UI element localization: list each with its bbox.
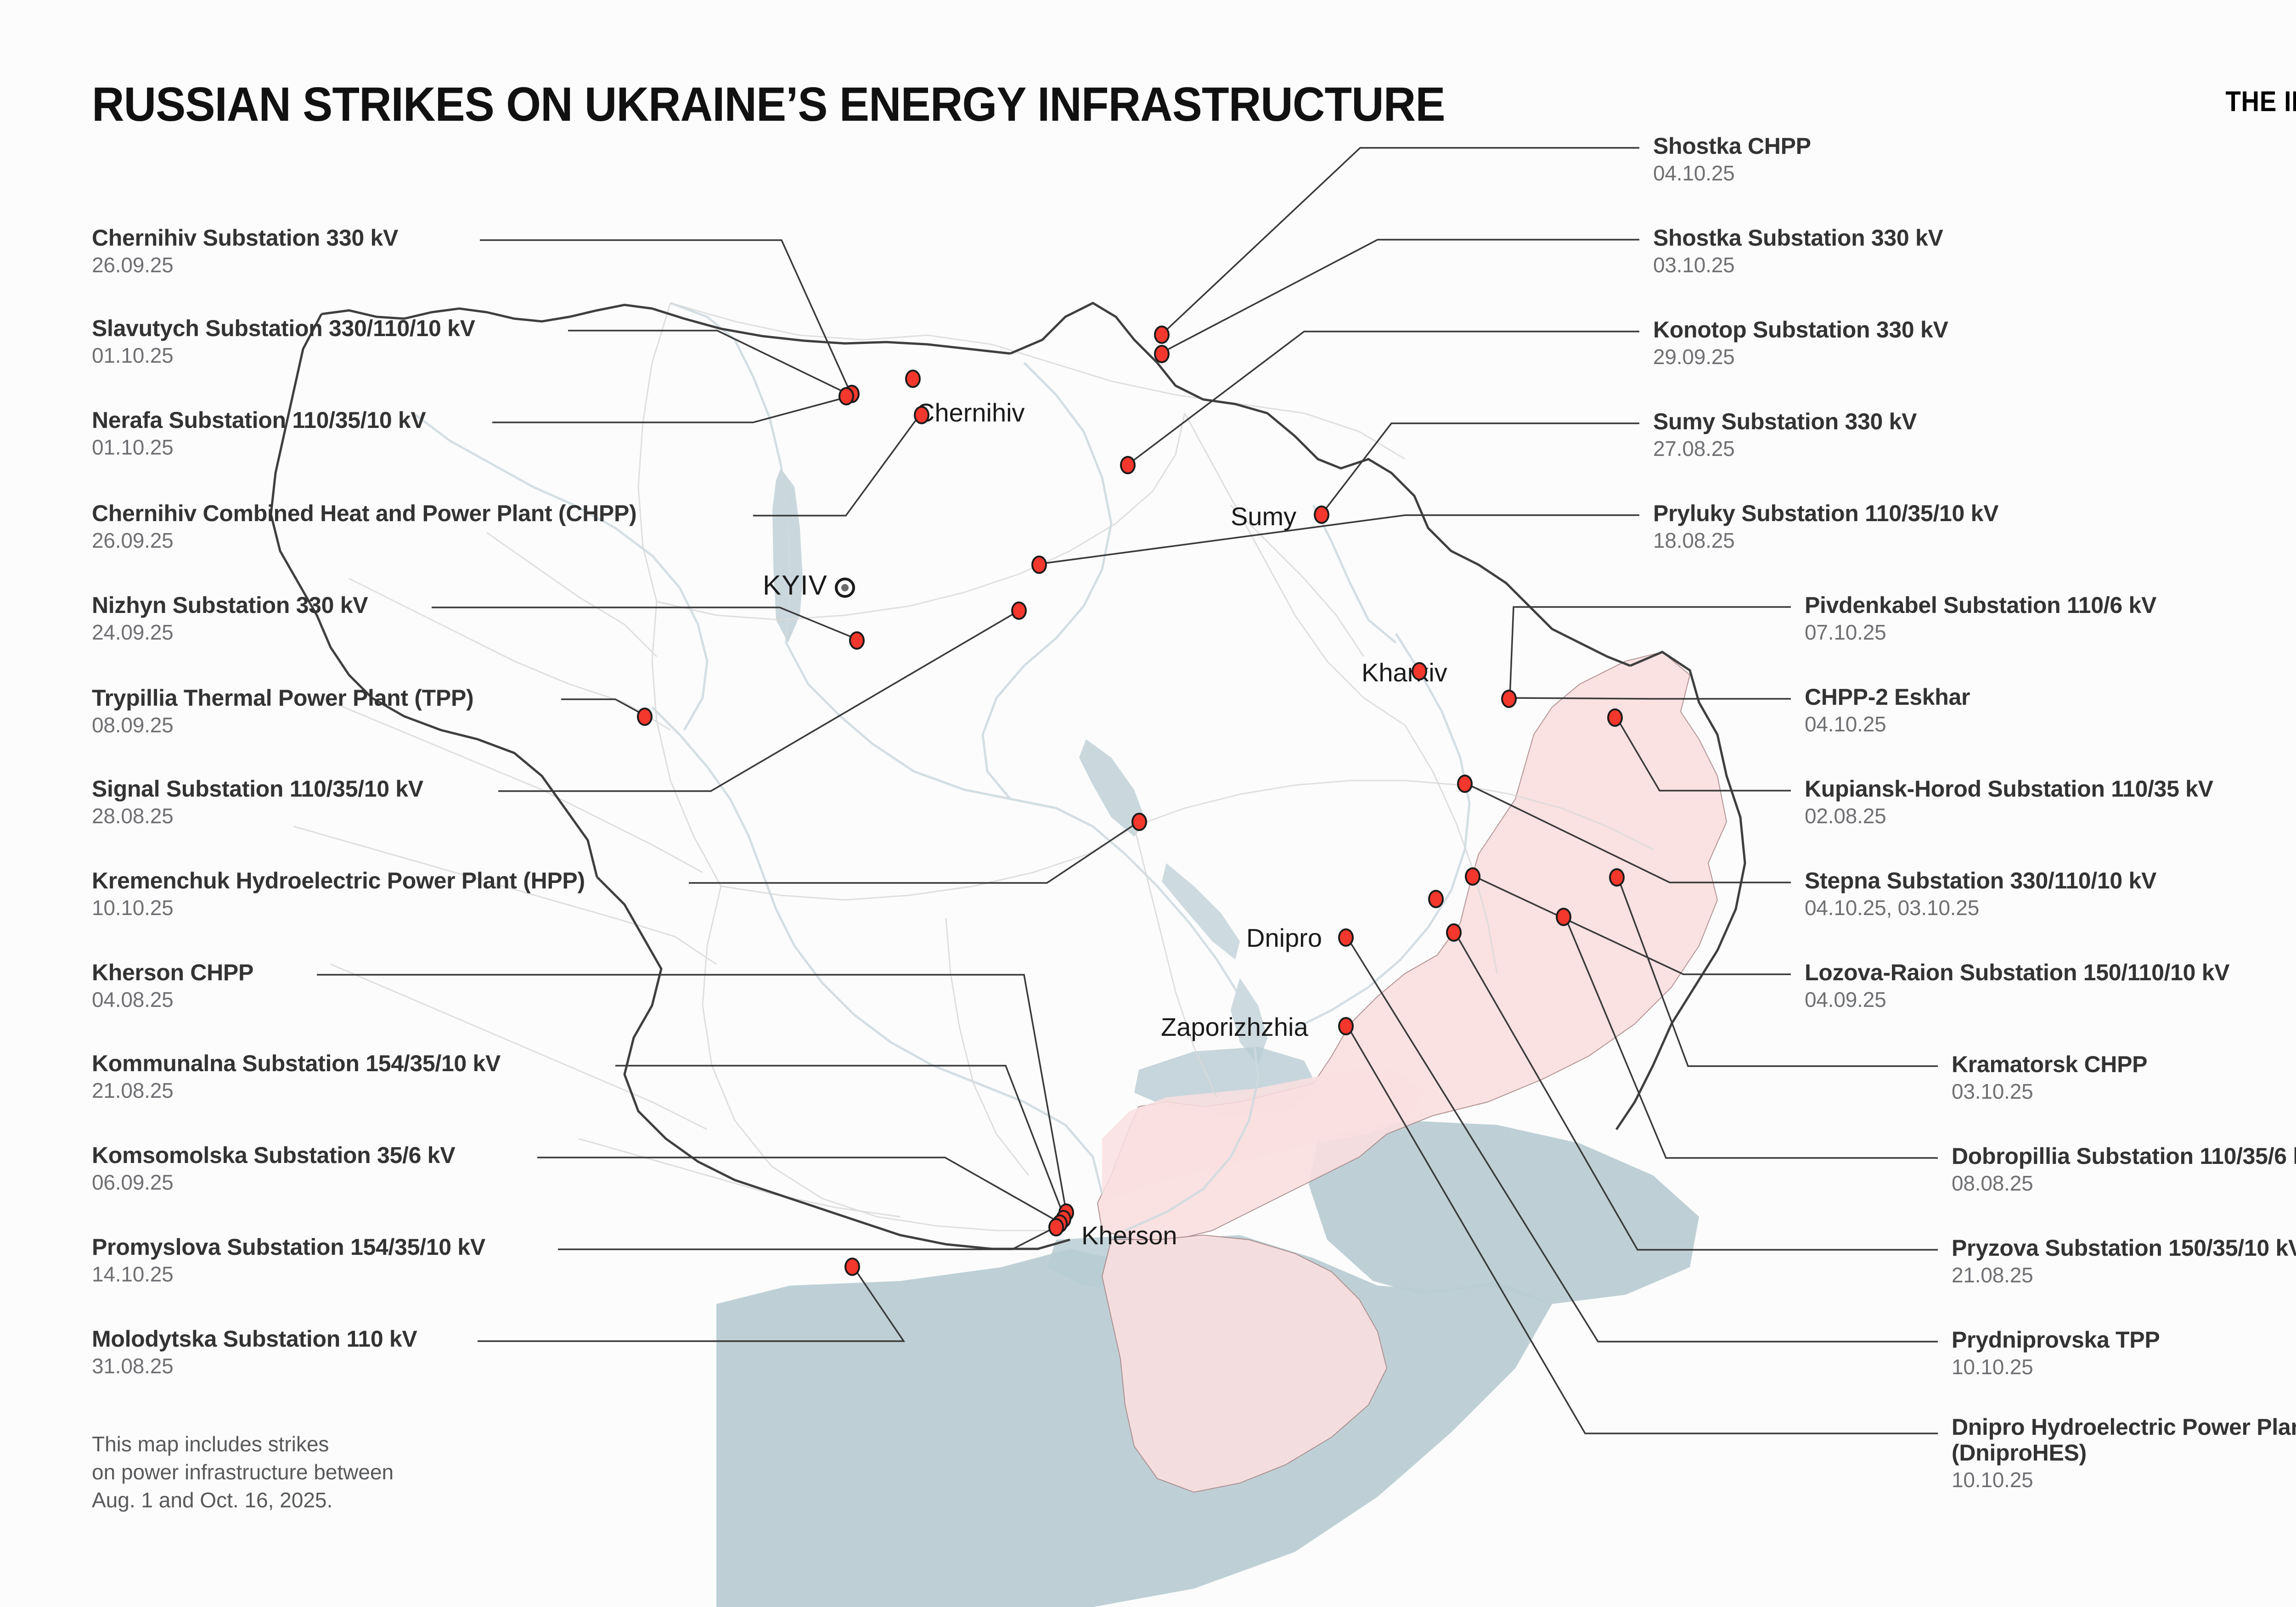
callout-name: Shostka Substation 330 kV <box>1653 225 1943 251</box>
callout-name: Pivdenkabel Substation 110/6 kV <box>1805 592 2156 618</box>
callout-date: 08.09.25 <box>92 713 473 738</box>
callout-name: Kherson CHPP <box>92 960 253 985</box>
callout-nizhyn-substation[interactable]: Nizhyn Substation 330 kV 24.09.25 <box>92 592 368 645</box>
callout-chpp2-eskhar[interactable]: CHPP-2 Eskhar 04.10.25 <box>1805 684 1970 737</box>
strike-marker-dniprohes[interactable] <box>1338 1017 1354 1035</box>
strike-marker-trypillia[interactable] <box>637 708 653 726</box>
callout-name: Chernihiv Substation 330 kV <box>92 225 398 251</box>
callout-chernihiv-substation[interactable]: Chernihiv Substation 330 kV 26.09.25 <box>92 225 398 278</box>
callout-date: 02.08.25 <box>1805 803 2213 829</box>
city-label-dnipro: Dnipro <box>1246 923 1322 953</box>
strike-marker-sumy[interactable] <box>1314 506 1329 524</box>
callout-date: 26.09.25 <box>92 528 636 553</box>
strike-marker-pryzova[interactable] <box>1446 923 1462 942</box>
infographic-root: RUSSIAN STRIKES ON UKRAINE’S ENERGY INFR… <box>0 0 2296 1607</box>
strike-marker-kupiansk-horod[interactable] <box>1457 775 1473 793</box>
callout-name: Chernihiv Combined Heat and Power Plant … <box>92 500 636 526</box>
city-label-kharkiv: Kharkiv <box>1362 657 1447 687</box>
callout-shostka-chpp[interactable]: Shostka CHPP 04.10.25 <box>1653 133 1811 186</box>
callout-date: 27.08.25 <box>1653 436 1917 461</box>
callout-date: 28.08.25 <box>92 803 423 829</box>
strike-marker-eskhar[interactable] <box>1607 708 1623 727</box>
callout-signal-substation[interactable]: Signal Substation 110/35/10 kV 28.08.25 <box>92 776 423 829</box>
city-label-sumy: Sumy <box>1231 501 1296 531</box>
callout-date: 18.08.25 <box>1653 528 1998 553</box>
strike-marker-prydniprovska[interactable] <box>1338 928 1354 947</box>
callout-name: Slavutych Substation 330/110/10 kV <box>92 315 475 341</box>
page-title: RUSSIAN STRIKES ON UKRAINE’S ENERGY INFR… <box>92 77 1445 132</box>
callout-dobropillia-substation[interactable]: Dobropillia Substation 110/35/6 kV 08.08… <box>1952 1143 2296 1196</box>
strike-marker-kremenchuk[interactable] <box>1131 813 1147 831</box>
strike-marker-chernihiv-chpp[interactable] <box>914 406 929 424</box>
callout-kremenchuk-hpp[interactable]: Kremenchuk Hydroelectric Power Plant (HP… <box>92 868 585 921</box>
capital-marker-kyiv <box>835 578 855 598</box>
callout-kupiansk-horod-substation[interactable]: Kupiansk-Horod Substation 110/35 kV 02.0… <box>1805 776 2213 829</box>
callout-date: 08.08.25 <box>1952 1171 2296 1196</box>
callout-molodytska-substation[interactable]: Molodytska Substation 110 kV 31.08.25 <box>92 1326 417 1379</box>
callout-komsomolska-substation[interactable]: Komsomolska Substation 35/6 kV 06.09.25 <box>92 1142 455 1195</box>
callout-name: Nerafa Substation 110/35/10 kV <box>92 407 426 433</box>
callout-name: Dnipro Hydroelectric Power Plant <box>1952 1414 2296 1440</box>
callout-date: 04.09.25 <box>1805 987 2229 1012</box>
callout-date: 04.10.25, 03.10.25 <box>1805 895 2156 921</box>
callout-date: 10.10.25 <box>92 895 585 921</box>
callout-date: 04.10.25 <box>1805 712 1970 737</box>
callout-name: Kupiansk-Horod Substation 110/35 kV <box>1805 776 2213 802</box>
callout-kherson-chpp[interactable]: Kherson CHPP 04.08.25 <box>92 960 253 1012</box>
strike-marker-signal[interactable] <box>1011 601 1027 620</box>
footnote-text: This map includes strikes on power infra… <box>92 1430 394 1515</box>
callout-date: 03.10.25 <box>1952 1079 2147 1104</box>
callout-name: Sumy Substation 330 kV <box>1653 409 1917 434</box>
callout-name: Trypillia Thermal Power Plant (TPP) <box>92 685 473 711</box>
callout-kommunalna-substation[interactable]: Kommunalna Substation 154/35/10 kV 21.08… <box>92 1051 501 1103</box>
callout-date: 29.09.25 <box>1653 344 1948 370</box>
callout-sumy-substation[interactable]: Sumy Substation 330 kV 27.08.25 <box>1653 409 1917 461</box>
callout-name: CHPP-2 Eskhar <box>1805 684 1970 710</box>
callout-prydniprovska-tpp[interactable]: Prydniprovska TPP 10.10.25 <box>1952 1327 2160 1380</box>
callout-stepna-substation[interactable]: Stepna Substation 330/110/10 kV 04.10.25… <box>1805 868 2156 921</box>
city-label-kyiv: KYIV <box>763 569 827 601</box>
callout-dnipro-hes[interactable]: Dnipro Hydroelectric Power Plant (Dnipro… <box>1952 1414 2296 1493</box>
callout-shostka-substation[interactable]: Shostka Substation 330 kV 03.10.25 <box>1653 225 1943 278</box>
callout-name: Pryluky Substation 110/35/10 kV <box>1653 500 1998 526</box>
callout-date: 10.10.25 <box>1952 1467 2296 1493</box>
callout-promyslova-substation[interactable]: Promyslova Substation 154/35/10 kV 14.10… <box>92 1234 485 1287</box>
callout-date: 03.10.25 <box>1653 253 1943 278</box>
callout-name: Prydniprovska TPP <box>1952 1327 2160 1353</box>
callout-date: 26.09.25 <box>92 253 398 278</box>
callout-lozova-raion-substation[interactable]: Lozova-Raion Substation 150/110/10 kV 04… <box>1805 960 2229 1012</box>
callout-date: 21.08.25 <box>1952 1263 2296 1288</box>
callout-date: 01.10.25 <box>92 435 426 460</box>
strike-marker-shostka-chpp[interactable] <box>1154 326 1170 344</box>
callout-name: Kommunalna Substation 154/35/10 kV <box>92 1051 501 1076</box>
strike-marker-stepna[interactable] <box>1465 867 1480 886</box>
city-label-kherson: Kherson <box>1081 1220 1177 1250</box>
callout-name-line2: (DniproHES) <box>1952 1440 2296 1466</box>
callout-date: 24.09.25 <box>92 620 368 645</box>
callout-date: 07.10.25 <box>1805 620 2156 645</box>
callout-slavutych-substation[interactable]: Slavutych Substation 330/110/10 kV 01.10… <box>92 315 475 368</box>
callout-date: 31.08.25 <box>92 1354 417 1379</box>
strike-marker-kharkiv[interactable] <box>1412 662 1427 680</box>
strike-marker-dobropillia[interactable] <box>1556 908 1571 926</box>
callout-name: Molodytska Substation 110 kV <box>92 1326 417 1352</box>
strike-marker-slavutych[interactable] <box>838 387 854 405</box>
callout-date: 06.09.25 <box>92 1170 455 1195</box>
callout-name: Promyslova Substation 154/35/10 kV <box>92 1234 485 1260</box>
strike-marker-konotop[interactable] <box>1120 456 1136 474</box>
callout-name: Komsomolska Substation 35/6 kV <box>92 1142 455 1168</box>
callout-pryzova-substation[interactable]: Pryzova Substation 150/35/10 kV 21.08.25 <box>1952 1235 2296 1288</box>
callout-trypillia-tpp[interactable]: Trypillia Thermal Power Plant (TPP) 08.0… <box>92 685 473 738</box>
callout-date: 21.08.25 <box>92 1078 501 1103</box>
brand-logo: THE INSIDER <box>2226 85 2296 118</box>
callout-name: Lozova-Raion Substation 150/110/10 kV <box>1805 960 2229 985</box>
strike-marker-lozova-raion[interactable] <box>1428 890 1444 908</box>
strike-marker-kramatorsk[interactable] <box>1609 868 1625 887</box>
strike-marker-promyslova[interactable] <box>1048 1218 1064 1236</box>
callout-date: 10.10.25 <box>1952 1354 2160 1380</box>
callout-date: 04.08.25 <box>92 987 253 1012</box>
callout-name: Konotop Substation 330 kV <box>1653 317 1948 343</box>
strike-marker-nizhyn[interactable] <box>849 631 865 650</box>
callout-name: Pryzova Substation 150/35/10 kV <box>1952 1235 2296 1261</box>
callout-konotop-substation[interactable]: Konotop Substation 330 kV 29.09.25 <box>1653 317 1948 370</box>
callout-name: Dobropillia Substation 110/35/6 kV <box>1952 1143 2296 1169</box>
callout-name: Shostka CHPP <box>1653 133 1811 159</box>
callout-pivdenkabel-substation[interactable]: Pivdenkabel Substation 110/6 kV 07.10.25 <box>1805 592 2156 645</box>
callout-nerafa-substation[interactable]: Nerafa Substation 110/35/10 kV 01.10.25 <box>92 407 426 460</box>
callout-chernihiv-chpp[interactable]: Chernihiv Combined Heat and Power Plant … <box>92 500 636 553</box>
callout-name: Kramatorsk CHPP <box>1952 1051 2147 1077</box>
callout-pryluky-substation[interactable]: Pryluky Substation 110/35/10 kV 18.08.25 <box>1653 500 1998 553</box>
strike-marker-molodytska[interactable] <box>844 1258 860 1276</box>
strike-marker-nerafa[interactable] <box>905 370 921 388</box>
callout-name: Stepna Substation 330/110/10 kV <box>1805 868 2156 893</box>
callout-name: Signal Substation 110/35/10 kV <box>92 776 423 802</box>
city-label-chernihiv: Chernihiv <box>916 398 1025 427</box>
strike-marker-pryluky[interactable] <box>1031 556 1047 574</box>
callout-date: 04.10.25 <box>1653 161 1811 186</box>
callout-date: 14.10.25 <box>92 1262 485 1287</box>
callout-date: 01.10.25 <box>92 343 475 368</box>
callout-name: Nizhyn Substation 330 kV <box>92 592 368 618</box>
city-label-zaporizhzhia: Zaporizhzhia <box>1161 1012 1308 1042</box>
callout-kramatorsk-chpp[interactable]: Kramatorsk CHPP 03.10.25 <box>1952 1051 2147 1104</box>
strike-marker-pivdenkabel[interactable] <box>1501 690 1517 708</box>
strike-marker-shostka-substation[interactable] <box>1154 345 1170 363</box>
callout-name: Kremenchuk Hydroelectric Power Plant (HP… <box>92 868 585 893</box>
